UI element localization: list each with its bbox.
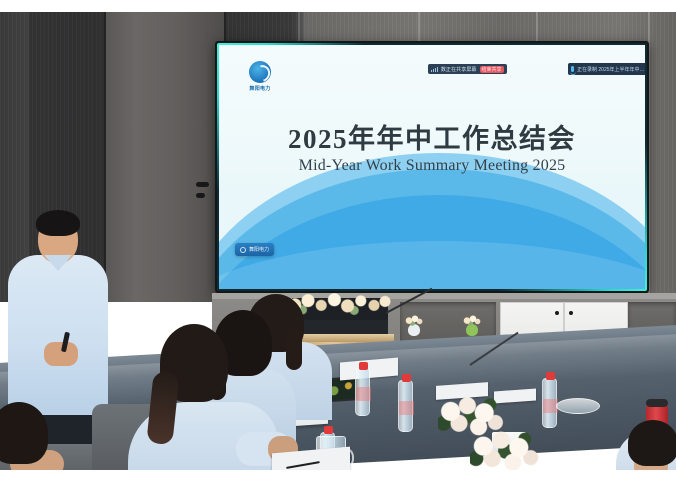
screen-share-badge[interactable]: 数正在共享屏幕 结束共享: [428, 64, 507, 74]
glass-ashtray: [556, 398, 600, 414]
slide-logo-label: 舞阳电力: [235, 85, 285, 92]
water-bottle: [355, 368, 370, 416]
circle-dot-icon: [240, 247, 246, 253]
slide-title: 2025年年中工作总结会: [219, 117, 645, 156]
slide-subtitle: Mid-Year Work Summary Meeting 2025: [219, 157, 645, 175]
conference-room-scene: 舞阳电力 数正在共享屏幕 结束共享 正在录制 2025年上半年年中…: [0, 12, 676, 470]
door-handle-icon[interactable]: [196, 182, 209, 187]
attendee-ponytail: [286, 328, 302, 370]
company-swirl-logo-icon: [249, 61, 271, 83]
water-bottle: [398, 380, 413, 432]
microphone-icon: [571, 66, 574, 72]
slide-corner-badge[interactable]: 舞阳电力: [235, 243, 274, 256]
cabinet-knob-icon[interactable]: [569, 311, 573, 315]
door-lock-icon[interactable]: [196, 193, 205, 198]
water-bottle: [542, 378, 557, 428]
presenter-hair: [36, 210, 80, 236]
meeting-room-door[interactable]: [104, 12, 226, 302]
signal-bars-icon: [431, 67, 438, 72]
presenter-shirt: [8, 255, 108, 415]
letterbox-bottom: [0, 470, 676, 483]
shelf-vase: [408, 324, 420, 336]
shelf-vase: [466, 324, 478, 336]
letterbox-top: [0, 0, 676, 12]
screen-share-label: 数正在共享屏幕: [441, 66, 477, 73]
slide-logo: 舞阳电力: [235, 61, 285, 92]
recording-badge[interactable]: 正在录制 2025年上半年年中…: [568, 63, 645, 75]
stop-share-button[interactable]: 结束共享: [480, 66, 504, 73]
cabinet-knob-icon[interactable]: [555, 311, 559, 315]
presentation-display: 舞阳电力 数正在共享屏幕 结束共享 正在录制 2025年上半年年中…: [215, 41, 649, 293]
recording-label: 正在录制 2025年上半年年中…: [577, 66, 645, 73]
slide-corner-label: 舞阳电力: [249, 246, 269, 253]
lectern-flowers: [286, 288, 396, 316]
attendee-hair: [628, 420, 676, 466]
presentation-slide: 舞阳电力 数正在共享屏幕 结束共享 正在录制 2025年上半年年中…: [219, 45, 645, 289]
meeting-photo: 舞阳电力 数正在共享屏幕 结束共享 正在录制 2025年上半年年中…: [0, 0, 676, 483]
flower-bouquet: [470, 430, 544, 470]
